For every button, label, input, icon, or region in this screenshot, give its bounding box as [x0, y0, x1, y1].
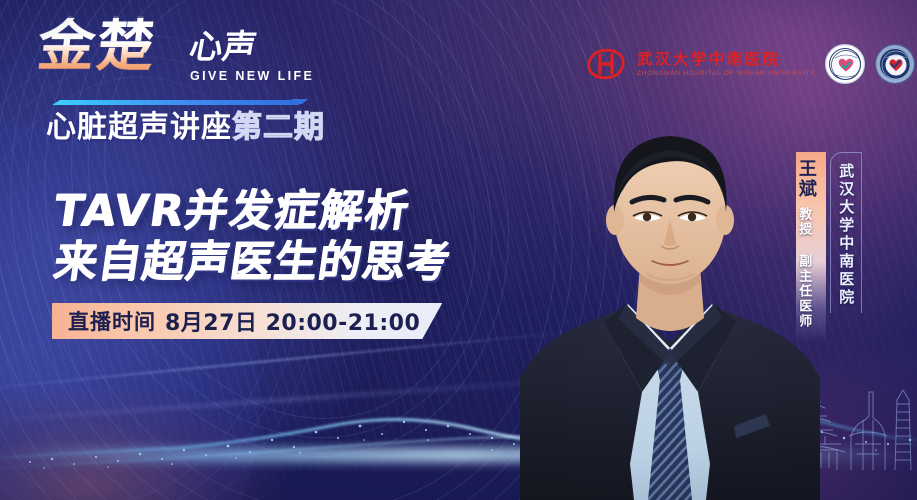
- poster-vignette: [0, 0, 917, 500]
- live-stream-poster: 王斌 教授 副主任医师 武汉大学中南医院 金楚 心声 GIVE NEW LIFE: [0, 0, 917, 500]
